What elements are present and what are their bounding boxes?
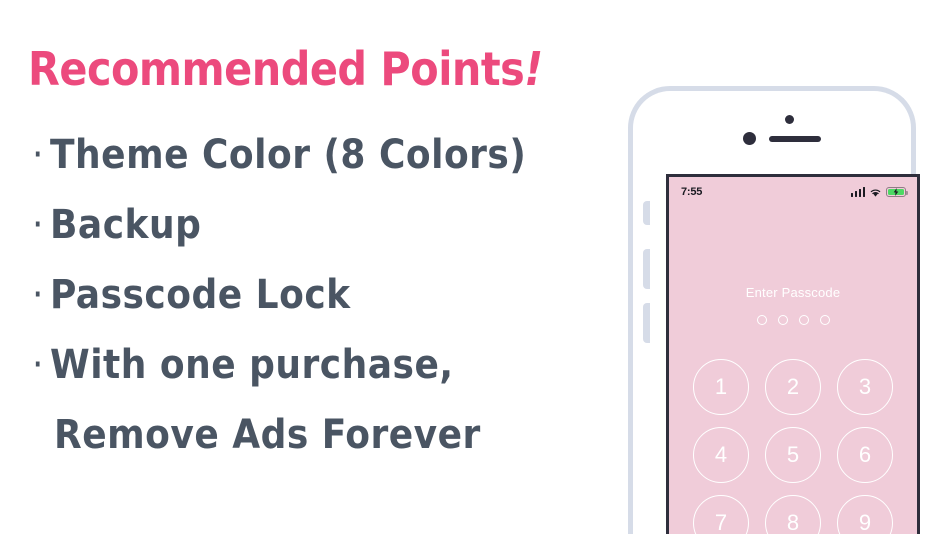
keypad-key-5[interactable]: 5: [765, 427, 821, 483]
passcode-keypad: 1 2 3 4 5 6 7 8 9: [669, 359, 917, 534]
feature-bullet-list: · Theme Color (8 Colors) · Backup · Pass…: [28, 121, 588, 469]
proximity-sensor-icon: [743, 132, 756, 145]
passcode-dot: [778, 315, 788, 325]
cellular-signal-icon: [851, 187, 866, 197]
promo-slide: Recommended Points! · Theme Color (8 Col…: [0, 0, 950, 534]
feature-list-panel: Recommended Points! · Theme Color (8 Col…: [28, 44, 588, 469]
mute-switch[interactable]: [643, 201, 650, 225]
keypad-key-3[interactable]: 3: [837, 359, 893, 415]
keypad-key-2[interactable]: 2: [765, 359, 821, 415]
passcode-dots: [669, 315, 917, 325]
keypad-key-9[interactable]: 9: [837, 495, 893, 534]
phone-screen: 7:55: [666, 174, 920, 534]
passcode-dot: [820, 315, 830, 325]
battery-charging-icon: [886, 187, 906, 197]
status-bar-time: 7:55: [681, 186, 702, 198]
volume-up-button[interactable]: [643, 249, 650, 289]
keypad-key-8[interactable]: 8: [765, 495, 821, 534]
list-item: · Backup: [28, 191, 588, 259]
keypad-key-7[interactable]: 7: [693, 495, 749, 534]
list-item: · Theme Color (8 Colors): [28, 121, 588, 189]
keypad-key-4[interactable]: 4: [693, 427, 749, 483]
keypad-key-6[interactable]: 6: [837, 427, 893, 483]
front-camera-icon: [785, 115, 794, 124]
list-item-label-continuation: Remove Ads Forever: [54, 401, 588, 469]
bullet-dot-icon: ·: [28, 191, 50, 259]
status-bar: 7:55: [669, 177, 917, 203]
volume-down-button[interactable]: [643, 303, 650, 343]
list-item: · With one purchase,: [28, 331, 588, 399]
page-title-text: Recommended Points: [28, 42, 524, 96]
passcode-dot: [799, 315, 809, 325]
page-title: Recommended Points!: [28, 44, 588, 95]
wifi-icon: [869, 187, 882, 198]
keypad-key-1[interactable]: 1: [693, 359, 749, 415]
bullet-dot-icon: ·: [28, 121, 50, 189]
list-item-label: Theme Color (8 Colors): [50, 121, 526, 189]
page-title-exclamation: !: [524, 42, 542, 96]
status-bar-indicators: [851, 187, 907, 198]
bullet-dot-icon: ·: [28, 331, 50, 399]
passcode-dot: [757, 315, 767, 325]
list-item-label: Passcode Lock: [50, 261, 351, 329]
phone-body: 7:55: [628, 86, 916, 534]
lock-screen-title: Enter Passcode: [669, 285, 917, 300]
list-item: · Passcode Lock: [28, 261, 588, 329]
list-item-label: Backup: [50, 191, 201, 259]
phone-mockup: 7:55: [612, 86, 932, 534]
list-item-label: With one purchase,: [50, 331, 454, 399]
earpiece-speaker-icon: [769, 136, 821, 142]
charging-bolt-icon: [893, 188, 900, 196]
bullet-dot-icon: ·: [28, 261, 50, 329]
